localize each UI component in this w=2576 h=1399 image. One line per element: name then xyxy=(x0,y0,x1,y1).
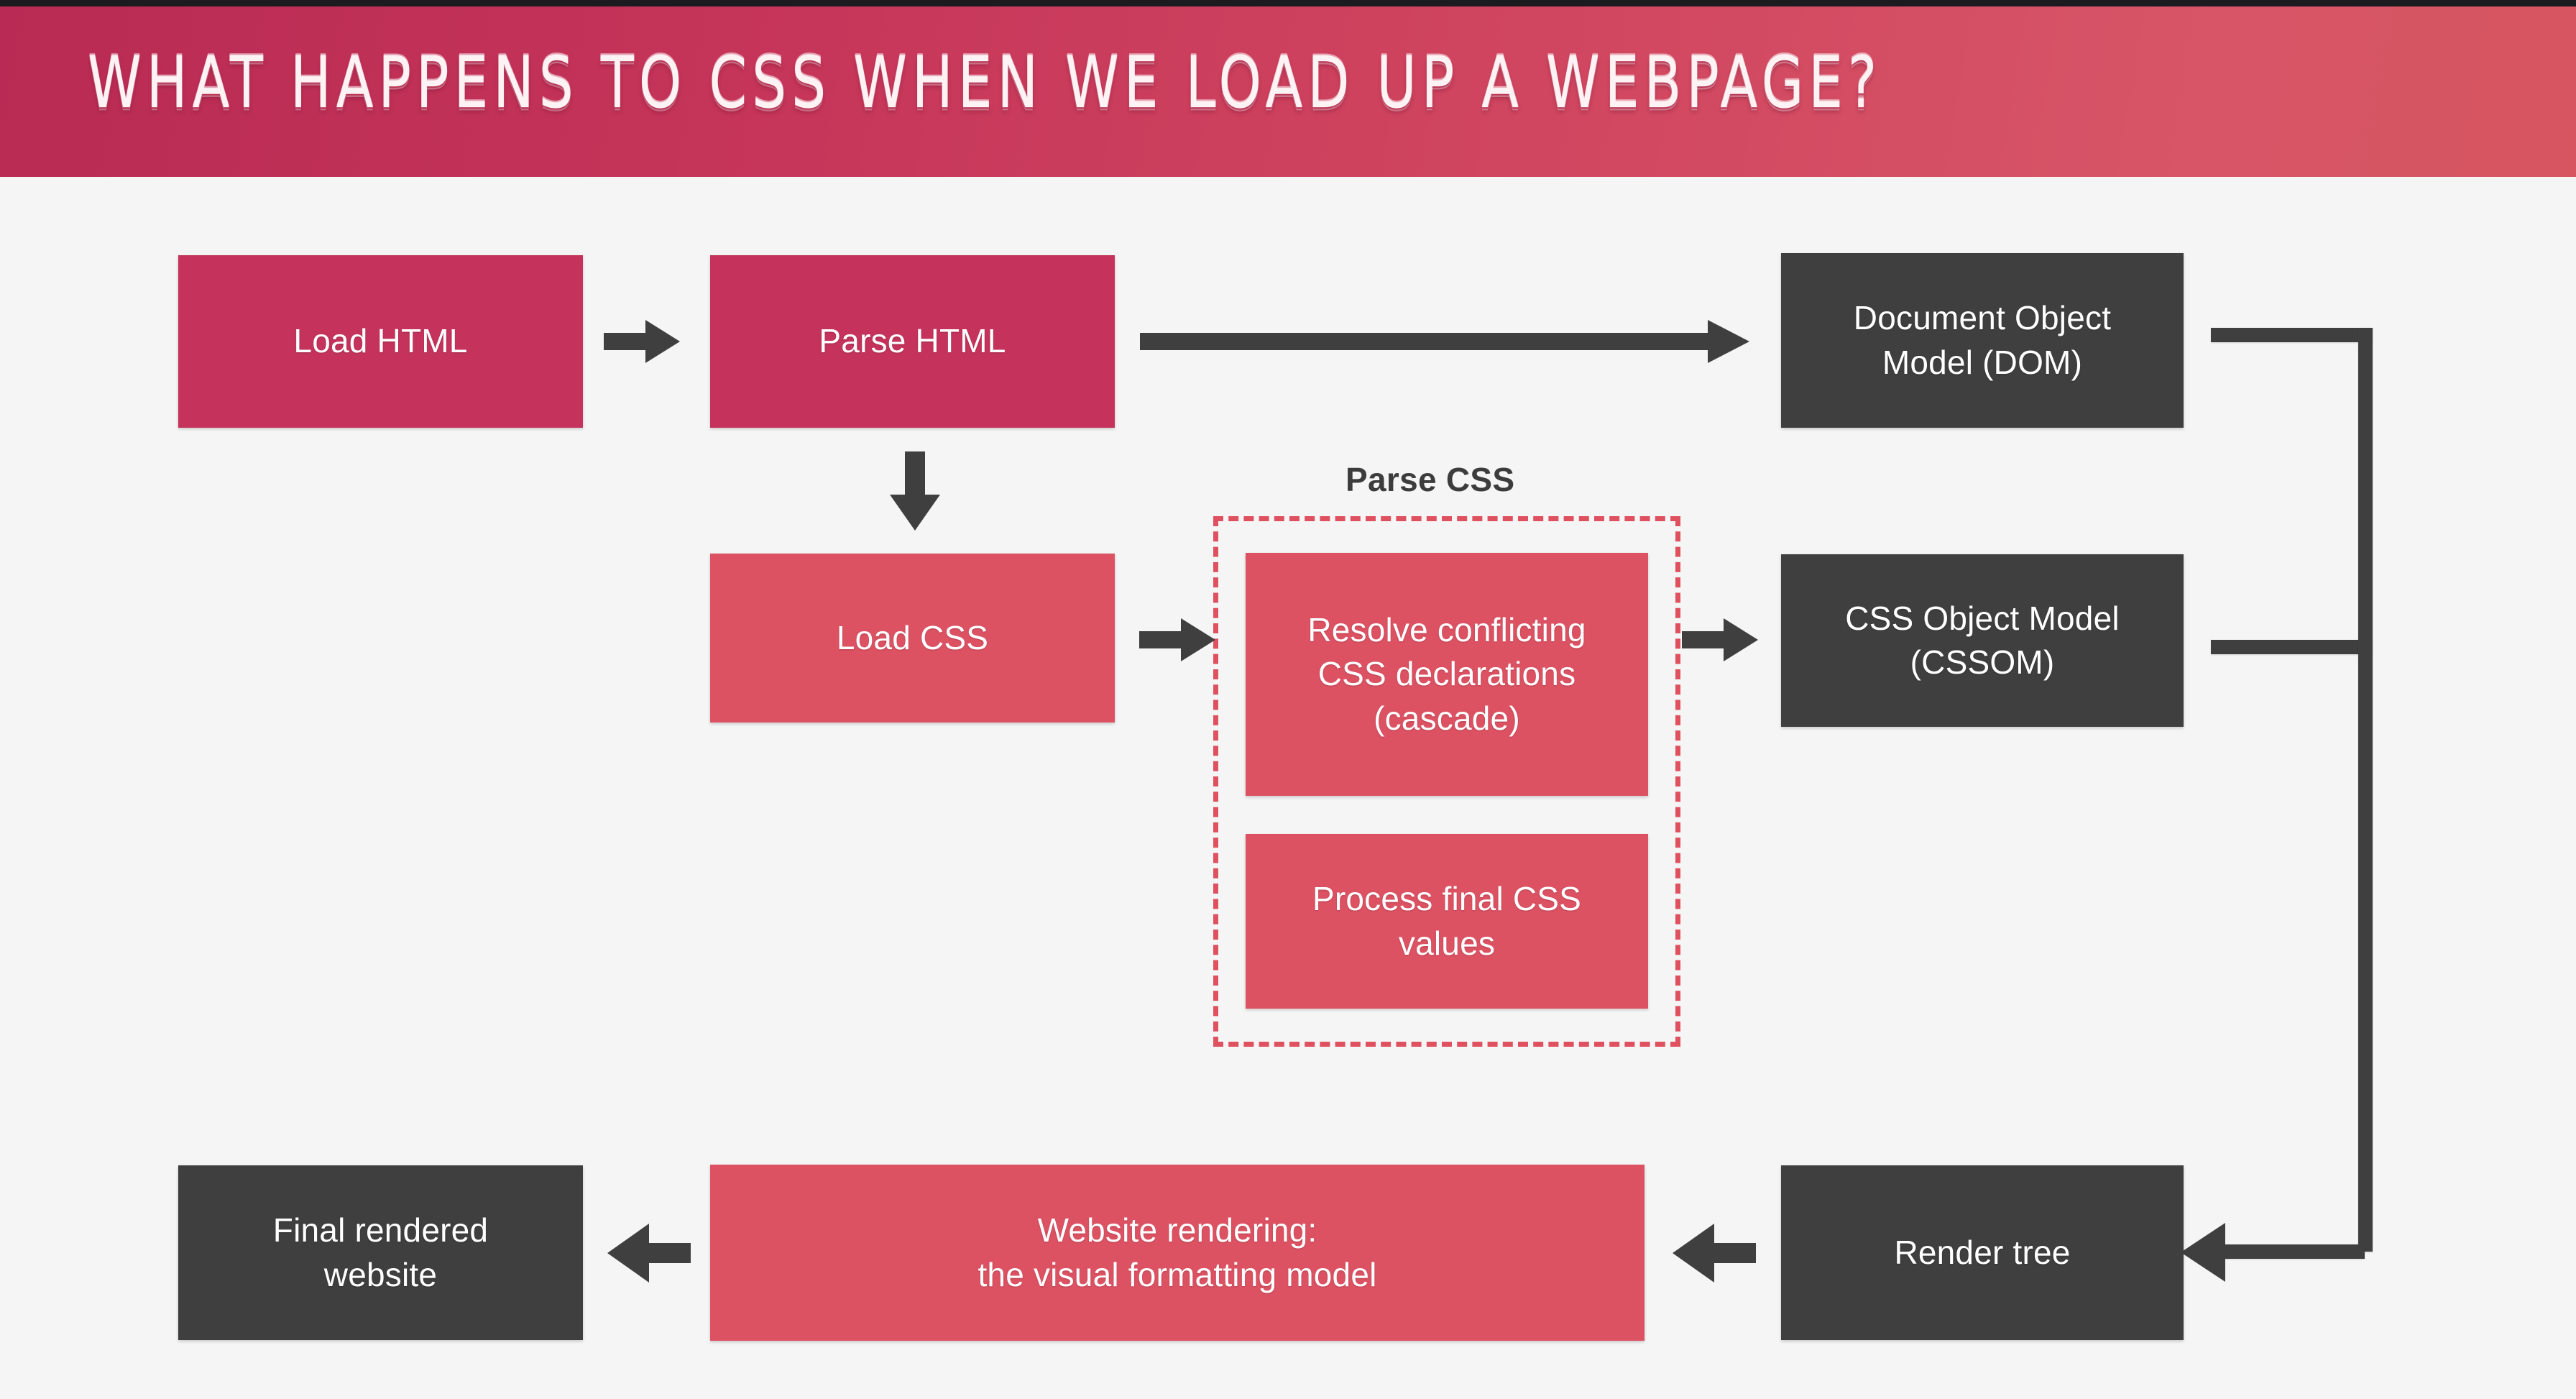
connector-vertical-bus xyxy=(2358,328,2373,1252)
group-label-parse-css: Parse CSS xyxy=(1345,460,1514,499)
node-load-html-label: Load HTML xyxy=(293,319,467,363)
node-cssom-label: CSS Object Model (CSSOM) xyxy=(1845,597,2120,684)
arrow-rendering-to-final-site xyxy=(607,1222,692,1284)
slide-canvas: WHAT HAPPENS TO CSS WHEN WE LOAD UP A WE… xyxy=(0,0,2576,1399)
node-render-tree-label: Render tree xyxy=(1894,1231,2070,1275)
page-title: WHAT HAPPENS TO CSS WHEN WE LOAD UP A WE… xyxy=(88,40,1882,124)
node-dom-label: Document Object Model (DOM) xyxy=(1854,296,2111,384)
connector-bus-to-render-tree xyxy=(2221,1244,2365,1259)
arrow-parse-html-to-dom xyxy=(1140,319,1751,364)
arrow-load-html-to-parse-html xyxy=(604,318,683,364)
node-resolve-cascade-label: Resolve conflicting CSS declarations (ca… xyxy=(1307,608,1586,740)
node-final-rendered-website-label: Final rendered website xyxy=(273,1208,488,1296)
node-process-final-css-values[interactable]: Process final CSS values xyxy=(1246,834,1648,1009)
node-load-css[interactable]: Load CSS xyxy=(710,554,1115,723)
node-load-html[interactable]: Load HTML xyxy=(178,255,583,428)
connector-cssom-to-bus xyxy=(2211,640,2373,654)
arrow-parse-css-to-cssom xyxy=(1682,617,1762,663)
node-parse-html[interactable]: Parse HTML xyxy=(710,255,1115,428)
node-website-rendering-label: Website rendering: the visual formatting… xyxy=(977,1208,1376,1296)
node-cssom[interactable]: CSS Object Model (CSSOM) xyxy=(1781,554,2184,727)
node-load-css-label: Load CSS xyxy=(837,616,988,660)
node-parse-html-label: Parse HTML xyxy=(819,319,1006,363)
node-resolve-cascade[interactable]: Resolve conflicting CSS declarations (ca… xyxy=(1246,553,1648,796)
node-website-rendering[interactable]: Website rendering: the visual formatting… xyxy=(710,1165,1644,1341)
node-process-final-css-values-label: Process final CSS values xyxy=(1312,877,1581,965)
node-dom[interactable]: Document Object Model (DOM) xyxy=(1781,253,2184,428)
arrow-render-tree-to-rendering xyxy=(1673,1222,1757,1284)
node-final-rendered-website[interactable]: Final rendered website xyxy=(178,1165,583,1340)
connector-dom-to-bus xyxy=(2211,328,2373,342)
node-render-tree[interactable]: Render tree xyxy=(1781,1165,2184,1340)
arrow-load-css-to-parse-css xyxy=(1139,617,1218,663)
arrowhead-into-render-tree xyxy=(2181,1221,2231,1283)
arrow-parse-html-to-load-css xyxy=(887,451,943,532)
top-strip xyxy=(0,0,2576,6)
header-band: WHAT HAPPENS TO CSS WHEN WE LOAD UP A WE… xyxy=(0,6,2576,177)
